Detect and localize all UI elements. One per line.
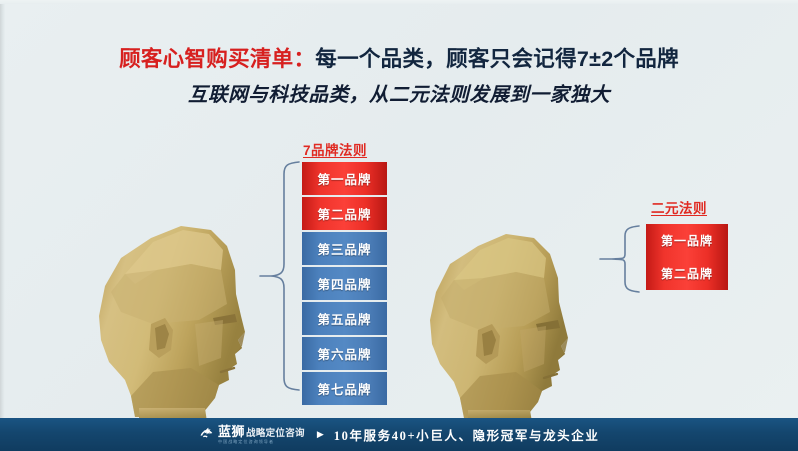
logo-main-row: 蓝狮 战略定位咨询 [218, 425, 305, 439]
footer-content: 蓝狮 战略定位咨询 中国战略定位咨询领导者 ▶ 10年服务40+小巨人、隐形冠军… [198, 425, 599, 445]
brand-box-4[interactable]: 第四品牌 [302, 267, 387, 300]
brand-box-2[interactable]: 第二品牌 [302, 197, 387, 230]
logo-text: 蓝狮 战略定位咨询 中国战略定位咨询领导者 [218, 425, 305, 445]
title-block: 顾客心智购买清单：每一个品类，顾客只会记得7±2个品牌 互联网与科技品类，从二元… [0, 44, 798, 109]
caption-dual-rule: 二元法则 [651, 197, 707, 217]
slide-top-edge [0, 0, 798, 4]
brand-box-1[interactable]: 第一品牌 [302, 162, 387, 195]
dual-brand-box[interactable]: 第一品牌 第二品牌 [646, 224, 728, 290]
title-line-2: 互联网与科技品类，从二元法则发展到一家独大 [0, 83, 798, 109]
brand-stack-seven: 第一品牌 第二品牌 第三品牌 第四品牌 第五品牌 第六品牌 第七品牌 [302, 162, 387, 407]
footer-bar: 蓝狮 战略定位咨询 中国战略定位咨询领导者 ▶ 10年服务40+小巨人、隐形冠军… [0, 418, 798, 451]
title-line-1: 顾客心智购买清单：每一个品类，顾客只会记得7±2个品牌 [0, 44, 798, 74]
brand-box-7[interactable]: 第七品牌 [302, 372, 387, 405]
lion-icon [198, 426, 215, 443]
brand-box-6[interactable]: 第六品牌 [302, 337, 387, 370]
caption-seven-brand-rule: 7品牌法则 [303, 139, 367, 159]
title-rest: 每一个品类，顾客只会记得7±2个品牌 [315, 47, 679, 71]
footer-slogan: 10年服务40+小巨人、隐形冠军与龙头企业 [334, 425, 600, 444]
triangle-bullet-icon: ▶ [317, 429, 324, 440]
brace-right-dual [598, 224, 642, 294]
dual-brand-label-1: 第一品牌 [661, 232, 713, 249]
brand-logo: 蓝狮 战略定位咨询 中国战略定位咨询领导者 [198, 425, 305, 445]
logo-primary-text: 蓝狮 [218, 425, 245, 438]
brand-stack-dual: 第一品牌 第二品牌 [646, 224, 728, 290]
brand-box-3[interactable]: 第三品牌 [302, 232, 387, 265]
brace-left-seven [258, 160, 302, 392]
title-highlight: 顾客心智购买清单： [119, 47, 315, 71]
logo-secondary-text: 战略定位咨询 [246, 429, 305, 439]
brand-box-5[interactable]: 第五品牌 [302, 302, 387, 335]
dual-brand-label-2: 第二品牌 [661, 265, 713, 282]
logo-subtitle: 中国战略定位咨询领导者 [218, 440, 305, 444]
slide-canvas: 顾客心智购买清单：每一个品类，顾客只会记得7±2个品牌 互联网与科技品类，从二元… [0, 0, 798, 451]
head-profile-right [428, 222, 608, 422]
